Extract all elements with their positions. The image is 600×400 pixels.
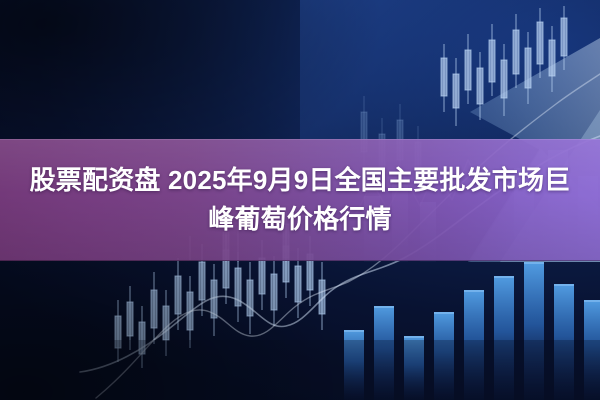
article-banner: 股票配资盘 2025年9月9日全国主要批发市场巨 峰葡萄价格行情 <box>0 0 600 400</box>
headline-line-1: 股票配资盘 2025年9月9日全国主要批发市场巨 <box>30 161 571 200</box>
headline-line-2: 峰葡萄价格行情 <box>208 200 391 239</box>
banner-headline: 股票配资盘 2025年9月9日全国主要批发市场巨 峰葡萄价格行情 <box>0 139 600 261</box>
